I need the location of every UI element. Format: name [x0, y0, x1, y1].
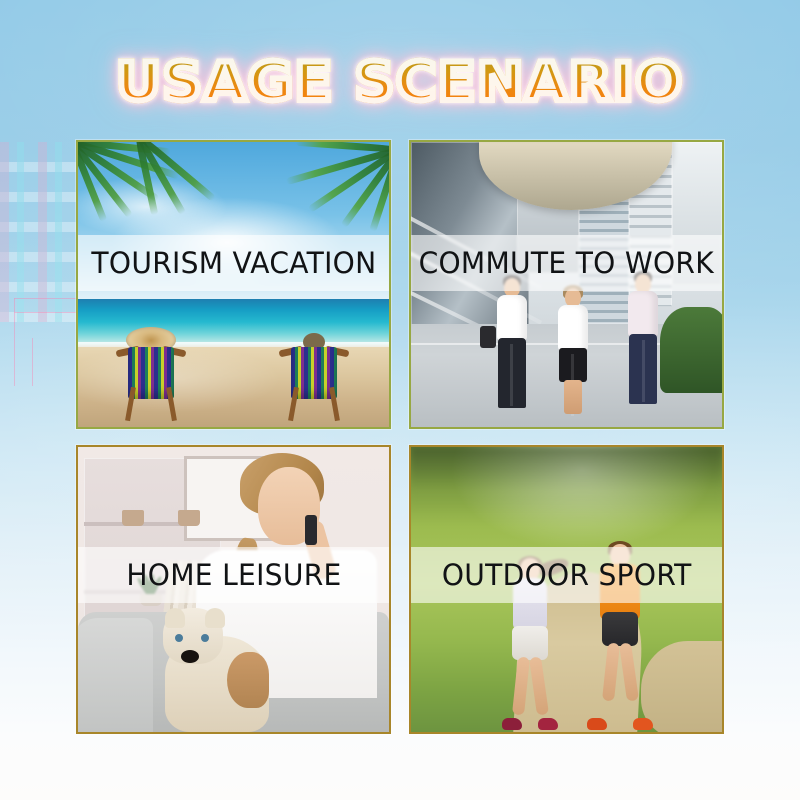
leather-skirt	[559, 348, 587, 382]
legs	[515, 657, 545, 721]
dog-head	[163, 608, 223, 664]
trousers	[498, 338, 526, 408]
running-shoe-right	[633, 718, 653, 730]
chair-leg-right	[166, 387, 177, 421]
running-shoe-right	[538, 718, 558, 730]
white-blouse	[558, 305, 588, 351]
scenario-card-tourism-vacation[interactable]: TOURISM VACATION	[76, 140, 391, 429]
scenario-card-home-leisure[interactable]: HOME LEISURE	[76, 445, 391, 734]
running-shoe-left	[587, 718, 607, 730]
dog-ear-left	[165, 608, 185, 628]
card-label-band: TOURISM VACATION	[78, 235, 389, 291]
sofa-armrest	[78, 618, 153, 732]
dog-ear-right	[205, 608, 225, 628]
businessman-right	[616, 274, 670, 416]
card-label-band: OUTDOOR SPORT	[411, 547, 722, 603]
mobile-phone	[305, 515, 317, 545]
chair-leg-left	[125, 387, 136, 421]
card-label-home-leisure: HOME LEISURE	[126, 558, 341, 592]
decor-box	[122, 510, 144, 526]
legs	[605, 643, 635, 707]
dog-eye-right	[201, 634, 209, 642]
shorts	[602, 612, 638, 646]
white-shirt	[497, 295, 527, 341]
shoulder-bag	[480, 326, 496, 348]
scenario-card-commute-to-work[interactable]: COMMUTE TO WORK	[409, 140, 724, 429]
deck-chair-left	[120, 329, 182, 421]
card-label-band: COMMUTE TO WORK	[411, 235, 722, 291]
tree-line-blur	[411, 447, 722, 510]
chair-leg-left	[288, 387, 299, 421]
scenario-card-outdoor-sport[interactable]: OUTDOOR SPORT	[409, 445, 724, 734]
deck-chair-right	[283, 329, 345, 421]
page-title: USAGE SCENARIO	[0, 56, 800, 109]
card-label-tourism-vacation: TOURISM VACATION	[91, 246, 376, 280]
chair-leg-right	[329, 387, 340, 421]
scenario-grid: TOURISM VACATION	[76, 140, 724, 734]
businesswoman-center	[548, 288, 598, 416]
running-shoe-left	[502, 718, 522, 730]
dog-fur-patch	[227, 652, 269, 708]
poster-canvas: USAGE SCENARIO	[0, 0, 800, 800]
dress-shirt	[628, 291, 658, 337]
card-label-band: HOME LEISURE	[78, 547, 389, 603]
terrier-dog	[159, 602, 277, 732]
businessman-left	[486, 278, 538, 416]
page-title-text: USAGE SCENARIO	[116, 56, 683, 109]
card-label-commute-to-work: COMMUTE TO WORK	[419, 246, 714, 280]
shorts	[512, 626, 548, 660]
dog-eye-left	[175, 634, 183, 642]
trousers	[629, 334, 657, 404]
dog-nose	[181, 650, 199, 663]
legs	[564, 380, 582, 414]
card-label-outdoor-sport: OUTDOOR SPORT	[442, 558, 692, 592]
decor-box	[178, 510, 200, 526]
